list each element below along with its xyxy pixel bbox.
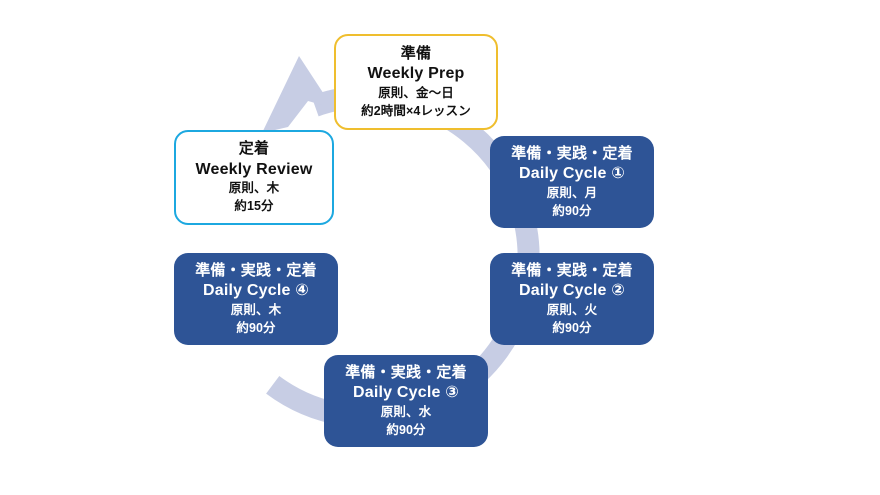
cycle-diagram-canvas: 準備 Weekly Prep 原則、金～日 約2時間×4レッスン 準備・実践・定… [0,0,880,495]
node-daily-cycle-3[interactable]: 準備・実践・定着 Daily Cycle ③ 原則、水 約90分 [324,355,488,447]
node-daily-cycle-1[interactable]: 準備・実践・定着 Daily Cycle ① 原則、月 約90分 [490,136,654,228]
node-daily-cycle-2-line4: 約90分 [552,320,591,338]
node-weekly-prep-line4: 約2時間×4レッスン [361,103,471,121]
node-daily-cycle-2[interactable]: 準備・実践・定着 Daily Cycle ② 原則、火 約90分 [490,253,654,345]
node-daily-cycle-2-line2: Daily Cycle ② [519,280,625,301]
node-daily-cycle-4[interactable]: 準備・実践・定着 Daily Cycle ④ 原則、木 約90分 [174,253,338,345]
node-daily-cycle-4-line1: 準備・実践・定着 [195,261,317,281]
node-weekly-review-line4: 約15分 [234,198,273,216]
node-weekly-prep-line2: Weekly Prep [367,63,464,84]
node-daily-cycle-2-line1: 準備・実践・定着 [511,261,633,281]
node-daily-cycle-3-line3: 原則、水 [381,404,431,422]
node-daily-cycle-3-line2: Daily Cycle ③ [353,382,459,403]
node-daily-cycle-1-line2: Daily Cycle ① [519,163,625,184]
node-weekly-review-line1: 定着 [239,139,269,159]
node-daily-cycle-4-line4: 約90分 [236,320,275,338]
node-daily-cycle-1-line3: 原則、月 [547,185,597,203]
node-daily-cycle-2-line3: 原則、火 [547,302,597,320]
node-daily-cycle-3-line4: 約90分 [386,422,425,440]
node-weekly-review-line3: 原則、木 [229,180,279,198]
node-daily-cycle-4-line2: Daily Cycle ④ [203,280,309,301]
node-daily-cycle-3-line1: 準備・実践・定着 [345,363,467,383]
node-weekly-prep[interactable]: 準備 Weekly Prep 原則、金～日 約2時間×4レッスン [334,34,498,130]
node-daily-cycle-1-line4: 約90分 [552,203,591,221]
node-weekly-review-line2: Weekly Review [195,159,312,180]
node-weekly-prep-line1: 準備 [401,44,431,64]
ring-arrowhead [262,56,333,133]
node-daily-cycle-4-line3: 原則、木 [231,302,281,320]
node-daily-cycle-1-line1: 準備・実践・定着 [511,144,633,164]
node-weekly-prep-line3: 原則、金～日 [378,85,454,103]
node-weekly-review[interactable]: 定着 Weekly Review 原則、木 約15分 [174,130,334,225]
